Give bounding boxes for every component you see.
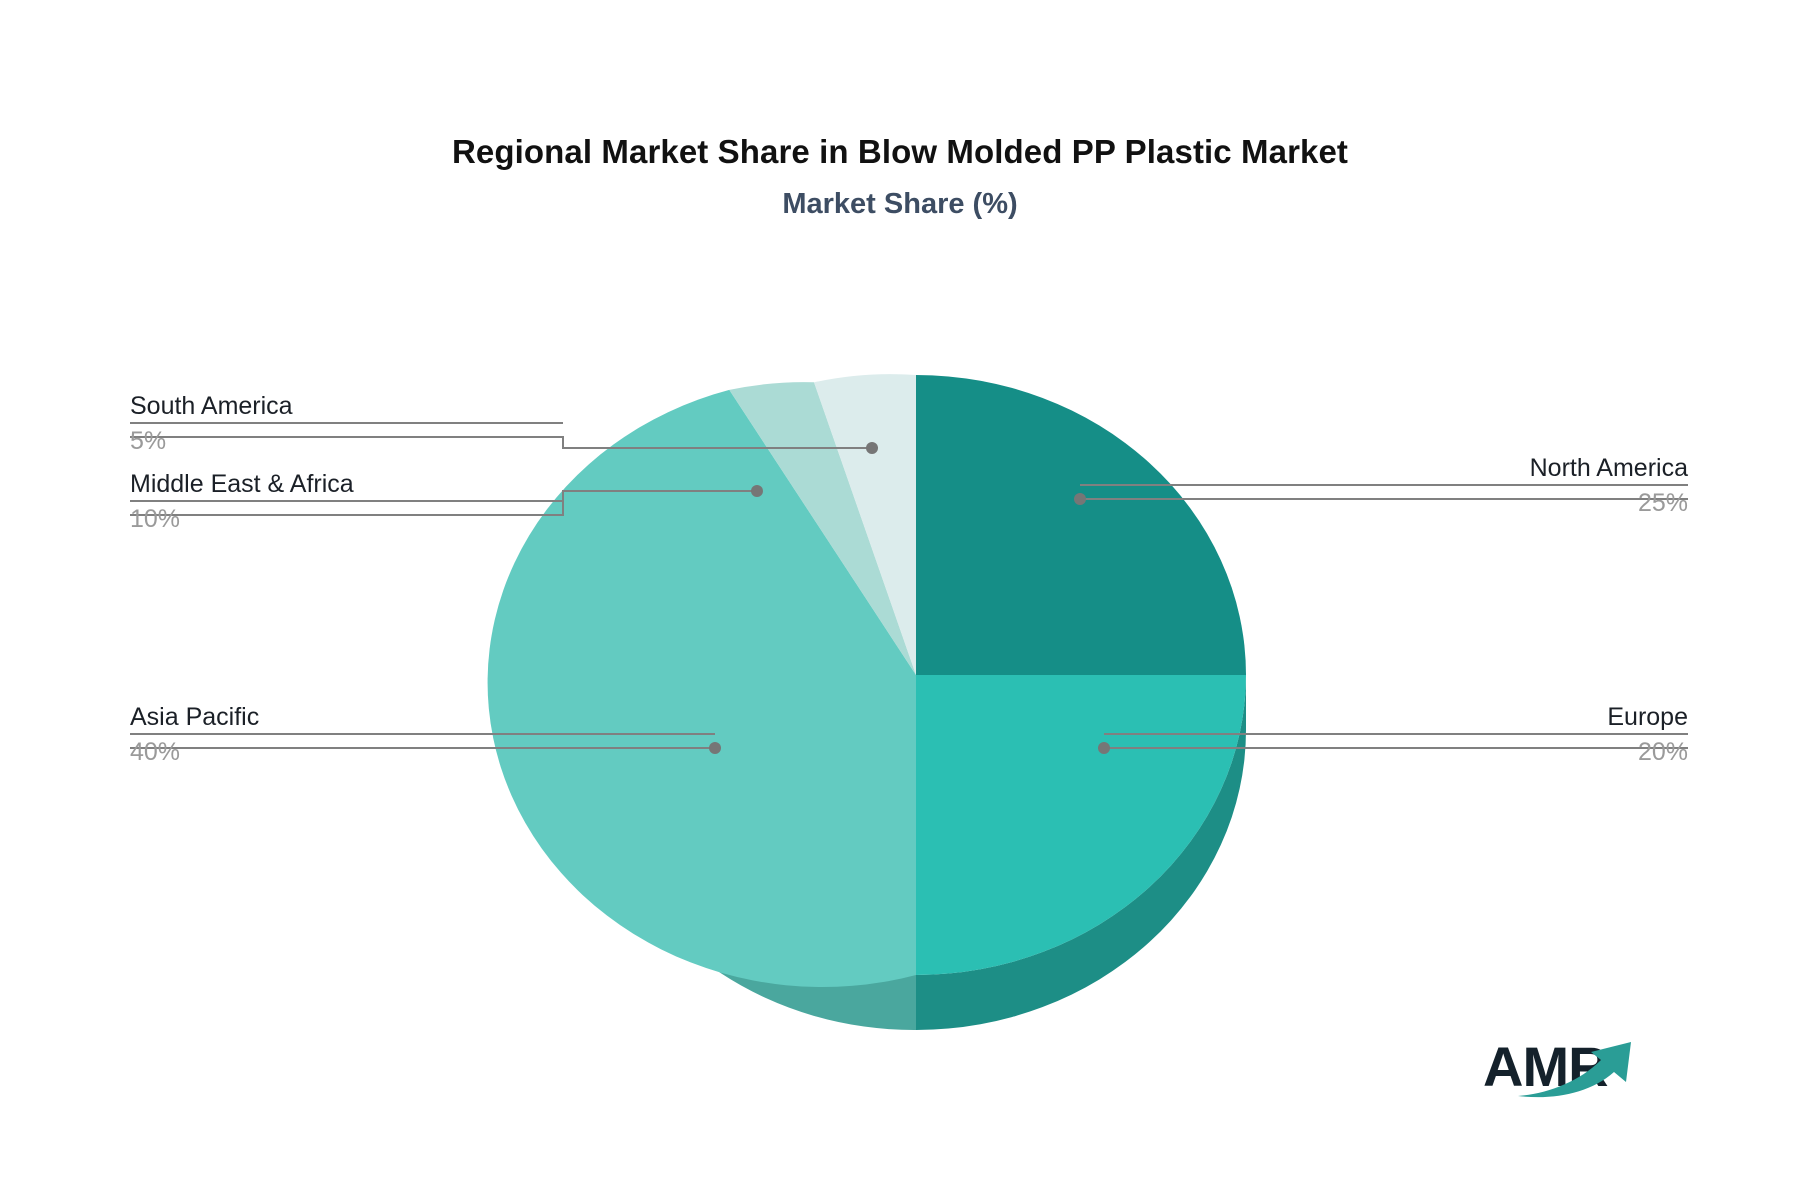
pie-slice-north-america	[916, 375, 1246, 675]
callout-label-south-america: South America	[130, 390, 563, 422]
callout-europe[interactable]: Europe 20%	[1104, 701, 1688, 769]
leader-dot-middle-east-africa	[751, 485, 763, 497]
callout-middle-east-africa[interactable]: Middle East & Africa 10%	[130, 468, 563, 536]
chart-canvas: Regional Market Share in Blow Molded PP …	[0, 0, 1800, 1196]
callout-value-middle-east-africa: 10%	[130, 502, 563, 536]
callout-south-america[interactable]: South America 5%	[130, 390, 563, 458]
callout-value-south-america: 5%	[130, 424, 563, 458]
callout-value-north-america: 25%	[1080, 486, 1688, 520]
callout-value-asia-pacific: 40%	[130, 735, 715, 769]
page-title: Regional Market Share in Blow Molded PP …	[0, 133, 1800, 171]
callout-label-middle-east-africa: Middle East & Africa	[130, 468, 563, 500]
amr-arrow-icon	[1483, 1030, 1658, 1102]
callout-label-asia-pacific: Asia Pacific	[130, 701, 715, 733]
leader-dot-south-america	[866, 442, 878, 454]
chart-subtitle: Market Share (%)	[0, 188, 1800, 221]
amr-logo: AMR	[1483, 1030, 1658, 1102]
callout-label-north-america: North America	[1080, 452, 1688, 484]
pie-chart	[0, 0, 1800, 1196]
callout-label-europe: Europe	[1104, 701, 1688, 733]
pie-wall-asia-pacific	[600, 768, 916, 1031]
pie-slice-south-america	[814, 374, 916, 675]
callout-north-america[interactable]: North America 25%	[1080, 452, 1688, 520]
callout-asia-pacific[interactable]: Asia Pacific 40%	[130, 701, 715, 769]
callout-value-europe: 20%	[1104, 735, 1688, 769]
pie-slice-middle-east-africa	[729, 382, 916, 675]
